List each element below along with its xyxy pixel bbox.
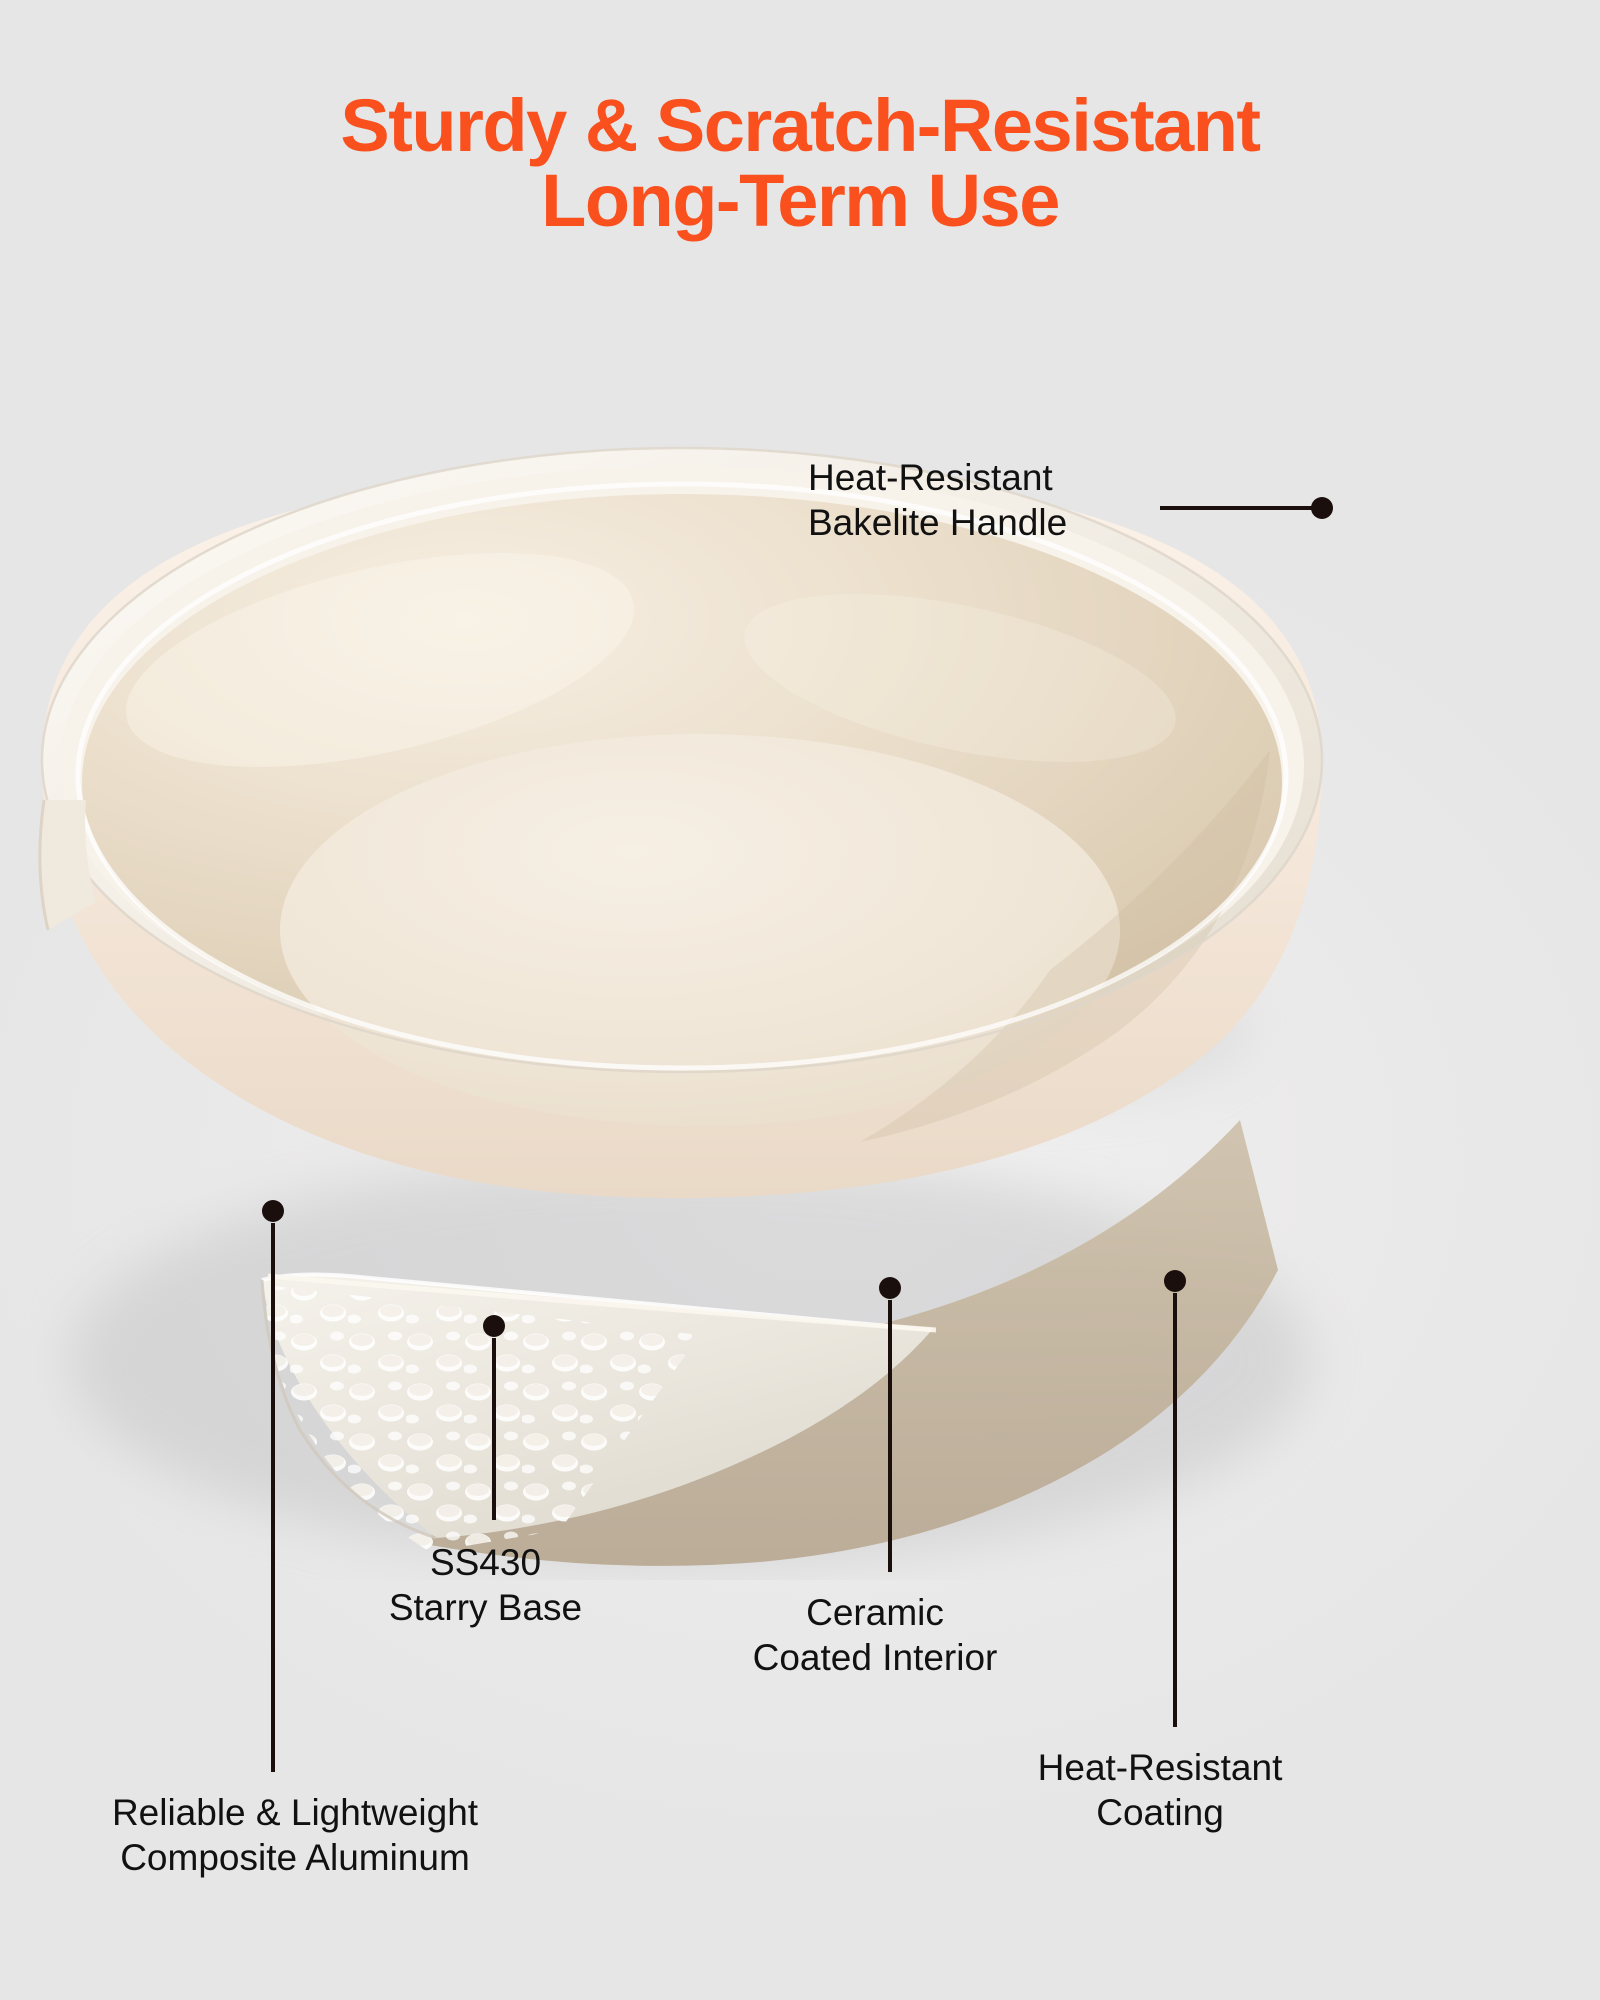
callout-label-ceramic-coated-interior: Ceramic Coated Interior — [690, 1590, 1060, 1680]
product-image — [0, 330, 1600, 1580]
callout-label-ss430-starry-base: SS430 Starry Base — [333, 1540, 638, 1630]
title-line-2: Long-Term Use — [0, 163, 1600, 238]
infographic-canvas: Sturdy & Scratch-Resistant Long-Term Use — [0, 0, 1600, 2000]
callout-label-composite-aluminum: Reliable & Lightweight Composite Aluminu… — [30, 1790, 560, 1880]
page-title: Sturdy & Scratch-Resistant Long-Term Use — [0, 88, 1600, 239]
callout-label-handle: Heat-Resistant Bakelite Handle — [808, 455, 1067, 545]
callout-label-heat-resistant-coating: Heat-Resistant Coating — [985, 1745, 1335, 1835]
title-line-1: Sturdy & Scratch-Resistant — [0, 88, 1600, 163]
